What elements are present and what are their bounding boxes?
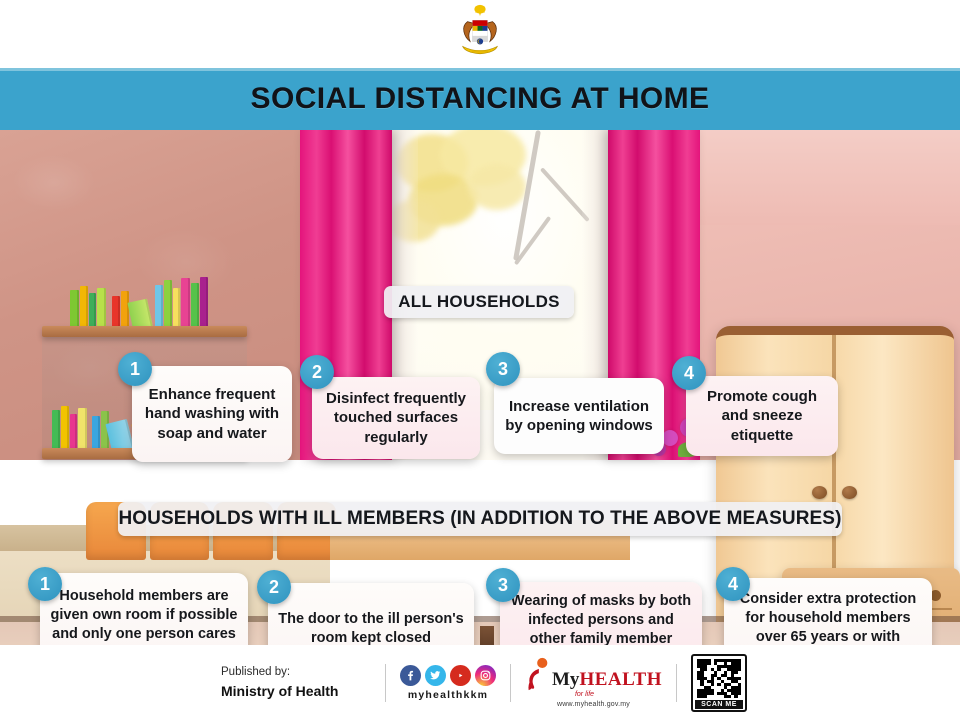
book — [89, 293, 96, 327]
card-number-badge: 3 — [486, 352, 520, 386]
book — [70, 290, 79, 327]
qr-code-image — [697, 659, 741, 698]
book — [70, 414, 77, 448]
facebook-icon[interactable] — [400, 665, 421, 686]
footer-divider — [510, 664, 511, 702]
measure-card-ill-4: Consider extra protection for household … — [724, 578, 932, 645]
published-by-label: Published by: — [221, 664, 371, 681]
section-heading-label: HOUSEHOLDS WITH ILL MEMBERS (IN ADDITION… — [118, 508, 841, 530]
publisher-block: Published by: Ministry of Health — [213, 664, 371, 700]
card-number-badge: 2 — [257, 570, 291, 604]
infographic-poster: SOCIAL DISTANCING AT HOME — [0, 0, 960, 720]
measure-card-ill-1: Household members are given own room if … — [40, 573, 248, 645]
myhealth-logo[interactable]: My HEALTH for life www.myhealth.gov.my — [525, 657, 662, 708]
measure-card-ill-2: The door to the ill person's room kept c… — [268, 583, 474, 645]
wardrobe-knob — [842, 486, 857, 499]
card-number-badge: 2 — [300, 355, 334, 389]
top-white-strip — [0, 0, 960, 68]
wall-right-upper — [700, 130, 960, 225]
section-heading-ill-members: HOUSEHOLDS WITH ILL MEMBERS (IN ADDITION… — [118, 502, 842, 536]
measure-card-text: Promote cough and sneeze etiquette — [696, 387, 828, 446]
card-number-badge: 3 — [486, 568, 520, 602]
foliage — [468, 164, 526, 210]
book — [97, 288, 106, 327]
measure-card-all-1: Enhance frequent hand washing with soap … — [132, 366, 292, 462]
publisher-name: Ministry of Health — [221, 682, 371, 701]
myhealth-my-text: My — [552, 669, 579, 691]
measure-card-text: Disinfect frequently touched surfaces re… — [322, 389, 470, 448]
qr-code-block[interactable]: SCAN ME — [691, 654, 747, 712]
measure-card-text: Increase ventilation by opening windows — [504, 397, 654, 436]
book — [181, 278, 190, 327]
measure-card-text: Wearing of masks by both infected person… — [510, 592, 692, 645]
book — [78, 408, 87, 448]
furniture-leg — [480, 626, 494, 645]
youtube-icon[interactable] — [450, 665, 471, 686]
card-number-badge: 4 — [672, 356, 706, 390]
instagram-icon[interactable] — [475, 665, 496, 686]
measure-card-ill-3: Wearing of masks by both infected person… — [500, 582, 702, 645]
footer: Published by: Ministry of Health — [0, 645, 960, 720]
measure-card-all-4: Promote cough and sneeze etiquette — [686, 376, 838, 456]
card-number-badge: 1 — [28, 567, 62, 601]
section-heading-all-households: ALL HOUSEHOLDS — [384, 286, 574, 318]
footer-divider — [676, 664, 677, 702]
myhealth-url: www.myhealth.gov.my — [557, 701, 630, 708]
measure-card-all-3: Increase ventilation by opening windows — [494, 378, 664, 454]
book — [200, 277, 208, 327]
measure-card-text: Consider extra protection for household … — [734, 590, 922, 645]
book — [164, 280, 172, 327]
measure-card-text: Enhance frequent hand washing with soap … — [142, 385, 282, 444]
myhealth-tagline: for life — [575, 691, 594, 698]
page-title: SOCIAL DISTANCING AT HOME — [251, 82, 710, 116]
malaysia-coat-of-arms-emblem — [449, 3, 511, 65]
book — [191, 283, 199, 327]
myhealth-wordmark-row: My HEALTH — [525, 657, 662, 691]
book — [52, 410, 60, 448]
book — [61, 406, 69, 448]
footer-divider — [385, 664, 386, 702]
myhealth-figure-icon — [525, 657, 551, 691]
measure-card-text: Household members are given own room if … — [50, 587, 238, 645]
qr-scan-me-label: SCAN ME — [695, 700, 743, 709]
measure-card-all-2: Disinfect frequently touched surfaces re… — [312, 377, 480, 459]
social-media-block: myhealthkkm — [400, 665, 496, 701]
bookshelf-shelf-top — [42, 326, 247, 337]
twitter-icon[interactable] — [425, 665, 446, 686]
book — [92, 416, 100, 448]
book — [155, 285, 163, 327]
title-banner: SOCIAL DISTANCING AT HOME — [0, 68, 960, 130]
book — [173, 288, 180, 327]
social-icons-row — [400, 665, 496, 686]
book — [112, 296, 120, 327]
section-heading-label: ALL HOUSEHOLDS — [398, 292, 560, 312]
card-number-badge: 4 — [716, 567, 750, 601]
myhealth-health-text: HEALTH — [579, 669, 662, 691]
room-scene-illustration: ALL HOUSEHOLDS 1 Enhance frequent hand w… — [0, 130, 960, 645]
social-handle: myhealthkkm — [408, 689, 488, 701]
card-number-badge: 1 — [118, 352, 152, 386]
book — [80, 286, 88, 327]
wardrobe-knob — [812, 486, 827, 499]
measure-card-text: The door to the ill person's room kept c… — [278, 610, 464, 645]
